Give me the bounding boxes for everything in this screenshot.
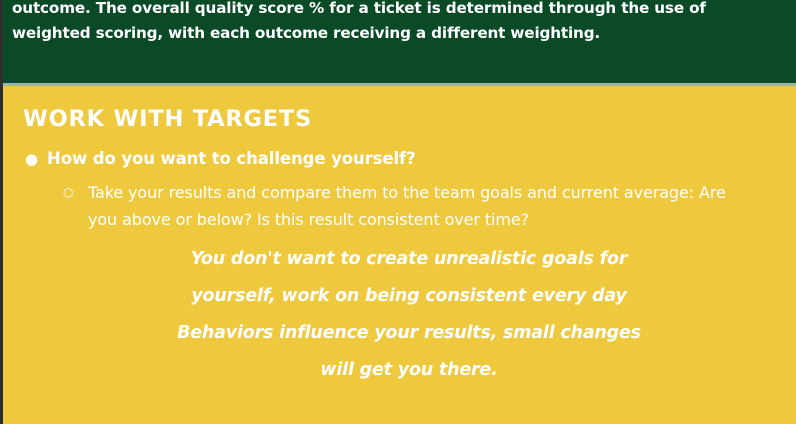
quote-line: You don't want to create unrealistic goa… <box>53 241 765 278</box>
quote-line: Behaviors influence your results, small … <box>53 315 765 352</box>
bullet-level1-label: How do you want to challenge yourself? <box>47 148 416 170</box>
section-title: WORK WITH TARGETS <box>23 106 312 132</box>
bullet-level2-label: Take your results and compare them to th… <box>88 179 738 233</box>
presentation-slide: outcome. The overall quality score % for… <box>0 0 796 424</box>
filled-disc-bullet-icon: ● <box>25 148 47 170</box>
intro-paragraph: outcome. The overall quality score % for… <box>12 0 784 46</box>
intro-green-band: outcome. The overall quality score % for… <box>0 0 796 83</box>
quote-line: will get you there. <box>53 352 765 389</box>
list-item: ● How do you want to challenge yourself? <box>25 148 765 170</box>
list-item: ○ Take your results and compare them to … <box>63 179 763 233</box>
work-with-targets-panel: WORK WITH TARGETS ● How do you want to c… <box>0 86 796 424</box>
motivational-quote: You don't want to create unrealistic goa… <box>53 241 765 389</box>
hollow-circle-bullet-icon: ○ <box>63 179 88 206</box>
quote-line: yourself, work on being consistent every… <box>53 278 765 315</box>
